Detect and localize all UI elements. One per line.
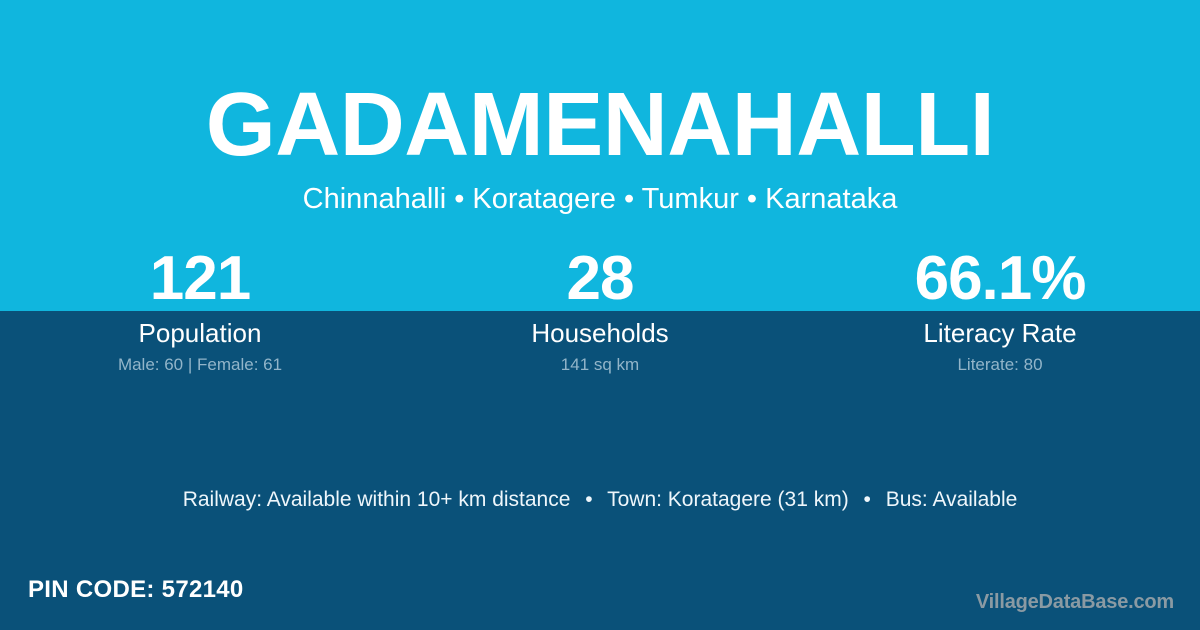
stat-literacy: 66.1% Literacy Rate Literate: 80 [800, 248, 1200, 375]
stats-row: 121 Population Male: 60 | Female: 61 28 … [0, 248, 1200, 375]
stat-population-label: Population [0, 318, 400, 348]
stat-households: 28 Households 141 sq km [400, 248, 800, 375]
pin-code: PIN CODE: 572140 [28, 575, 244, 605]
stat-literacy-label: Literacy Rate [800, 318, 1200, 348]
breadcrumb: Chinnahalli • Koratagere • Tumkur • Karn… [0, 182, 1200, 216]
stat-literacy-sub: Literate: 80 [800, 355, 1200, 375]
facilities-line: Railway: Available within 10+ km distanc… [0, 486, 1200, 514]
village-info-card: GADAMENAHALLI Chinnahalli • Koratagere •… [0, 0, 1200, 630]
stat-households-value: 28 [400, 248, 800, 310]
page-title: GADAMENAHALLI [0, 76, 1200, 174]
facility-railway: Railway: Available within 10+ km distanc… [183, 488, 571, 511]
stat-population-value: 121 [0, 248, 400, 310]
facility-town: Town: Koratagere (31 km) [607, 488, 849, 511]
facility-bus: Bus: Available [886, 488, 1018, 511]
facility-separator-1: • [576, 488, 601, 511]
stat-population: 121 Population Male: 60 | Female: 61 [0, 248, 400, 375]
stat-households-sub: 141 sq km [400, 355, 800, 375]
stat-population-sub: Male: 60 | Female: 61 [0, 355, 400, 375]
facility-separator-2: • [855, 488, 880, 511]
stat-literacy-value: 66.1% [800, 248, 1200, 310]
site-watermark: VillageDataBase.com [976, 590, 1174, 614]
stat-households-label: Households [400, 318, 800, 348]
